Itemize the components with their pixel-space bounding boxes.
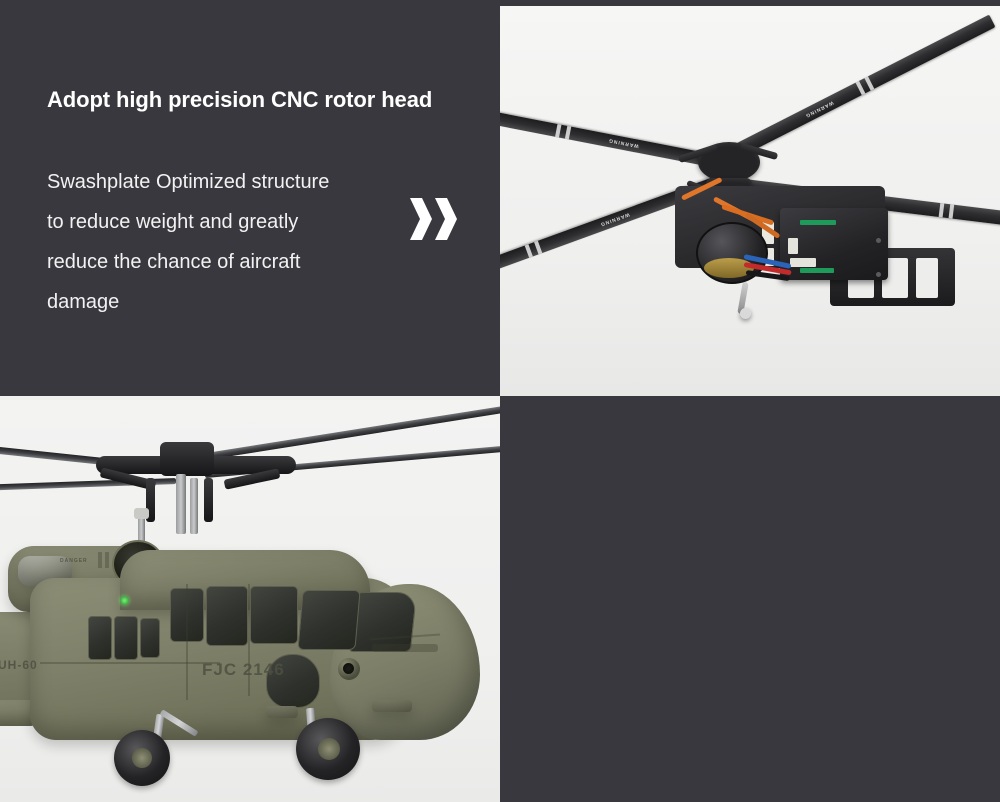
rotor-mast xyxy=(176,474,186,534)
nose-vent-grille xyxy=(372,644,438,652)
helicopter-photo: DANGER xyxy=(0,400,500,802)
cowling-vent-1 xyxy=(98,552,102,568)
nose-sensor-lens xyxy=(343,663,354,674)
pcb-white-connector-2 xyxy=(790,258,816,267)
cnc-rotor-head-headline: Adopt high precision CNC rotor head xyxy=(47,80,497,120)
cargo-window-3 xyxy=(140,618,160,658)
cnc-rotor-head-body: Swashplate Optimized structure to reduce… xyxy=(47,162,407,322)
cargo-window-2 xyxy=(114,616,138,660)
cabin-window-1 xyxy=(250,586,298,644)
cockpit-windshield-left xyxy=(297,590,360,650)
double-chevron-right-icon xyxy=(410,198,457,240)
fuselage-marking: FJC 2146 xyxy=(202,660,285,680)
cargo-window-1 xyxy=(88,616,112,660)
pcb-white-connector-1 xyxy=(788,238,798,254)
pcb-green-strip-1 xyxy=(800,220,836,225)
pcb-screw-1 xyxy=(876,238,881,243)
helicopter-scene: DANGER xyxy=(0,400,500,802)
tail-marking: UH-60 xyxy=(0,658,38,672)
casing-process-text-panel: The casing adopts hot runner injection m… xyxy=(500,400,1000,802)
pcb-screw-2 xyxy=(876,272,881,277)
cowling-vent-2 xyxy=(105,552,109,568)
rotor-blade-upper-right: WARNING xyxy=(722,15,996,164)
rotor-mast-2 xyxy=(190,478,198,534)
danger-marking: DANGER xyxy=(60,558,88,564)
nav-light-green xyxy=(120,596,129,605)
top-divider-strip xyxy=(500,0,1000,6)
cabin-door-edge xyxy=(186,584,188,700)
rotor-head-photo: WARNING WARNING WARNING WARNING xyxy=(500,0,1000,396)
main-wheel-left-hub xyxy=(132,748,152,768)
step-fairing-right xyxy=(372,700,412,712)
rotor-head-center xyxy=(160,442,214,476)
pitch-link-right xyxy=(204,478,213,522)
pcb-green-strip-2 xyxy=(800,268,834,273)
product-feature-collage: Adopt high precision CNC rotor head Swas… xyxy=(0,0,1000,802)
cnc-rotor-head-text-panel: Adopt high precision CNC rotor head Swas… xyxy=(0,0,500,396)
antenna-tip xyxy=(740,308,751,319)
fuselage-seam xyxy=(40,662,220,664)
frame-cutout-3 xyxy=(916,258,938,298)
cabin-door-window xyxy=(206,586,248,646)
main-wheel-right-hub xyxy=(318,738,340,760)
roof-pitot-tip xyxy=(134,508,149,519)
step-fairing-left xyxy=(266,706,298,718)
rotor-head-scene: WARNING WARNING WARNING WARNING xyxy=(500,0,1000,396)
